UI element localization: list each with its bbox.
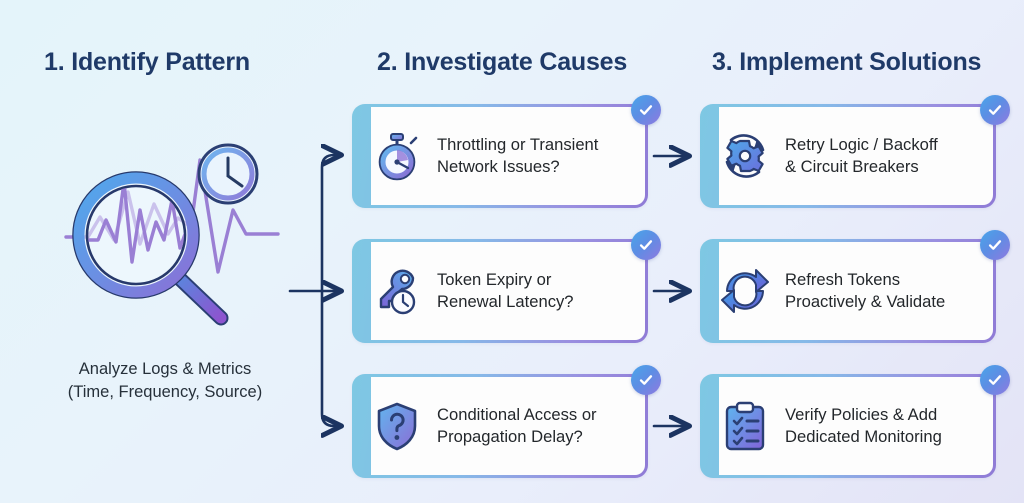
stopwatch-icon <box>371 130 423 182</box>
gear-refresh-icon <box>719 130 771 182</box>
card-text: Token Expiry or Renewal Latency? <box>437 269 574 313</box>
card-text: Conditional Access or Propagation Delay? <box>437 404 597 448</box>
card-text: Retry Logic / Backoff & Circuit Breakers <box>785 134 938 178</box>
check-badge-solution-1 <box>980 95 1010 125</box>
card-line-2: Propagation Delay? <box>437 426 597 448</box>
card-line-1: Conditional Access or <box>437 404 597 426</box>
key-clock-icon <box>371 265 423 317</box>
clipboard-check-icon <box>719 400 771 452</box>
card-line-1: Retry Logic / Backoff <box>785 134 938 156</box>
column-title-identify-pattern: 1. Identify Pattern <box>44 48 250 77</box>
card-line-2: Renewal Latency? <box>437 291 574 313</box>
check-icon <box>637 371 655 389</box>
check-badge-solution-2 <box>980 230 1010 260</box>
check-icon <box>986 371 1004 389</box>
card-text: Refresh Tokens Proactively & Validate <box>785 269 945 313</box>
sync-arrows-icon <box>719 265 771 317</box>
card-line-2: Dedicated Monitoring <box>785 426 942 448</box>
check-badge-cause-3 <box>631 365 661 395</box>
card-line-1: Verify Policies & Add <box>785 404 942 426</box>
card-line-1: Throttling or Transient <box>437 134 598 156</box>
shield-question-icon <box>371 400 423 452</box>
card-text: Throttling or Transient Network Issues? <box>437 134 598 178</box>
card-cause-throttling[interactable]: Throttling or Transient Network Issues? <box>352 104 648 208</box>
card-line-1: Refresh Tokens <box>785 269 945 291</box>
check-badge-solution-3 <box>980 365 1010 395</box>
card-text: Verify Policies & Add Dedicated Monitori… <box>785 404 942 448</box>
caption-line-1: Analyze Logs & Metrics <box>10 358 320 381</box>
illustration-caption: Analyze Logs & Metrics (Time, Frequency,… <box>10 358 320 405</box>
check-badge-cause-1 <box>631 95 661 125</box>
column-title-investigate-causes: 2. Investigate Causes <box>377 48 627 77</box>
card-cause-token-expiry[interactable]: Token Expiry or Renewal Latency? <box>352 239 648 343</box>
card-solution-refresh-tokens[interactable]: Refresh Tokens Proactively & Validate <box>700 239 996 343</box>
check-badge-cause-2 <box>631 230 661 260</box>
check-icon <box>637 101 655 119</box>
infographic-canvas: 1. Identify Pattern 2. Investigate Cause… <box>0 0 1024 503</box>
check-icon <box>986 236 1004 254</box>
card-line-2: & Circuit Breakers <box>785 156 938 178</box>
card-solution-retry-logic[interactable]: Retry Logic / Backoff & Circuit Breakers <box>700 104 996 208</box>
card-line-2: Network Issues? <box>437 156 598 178</box>
card-cause-conditional-access[interactable]: Conditional Access or Propagation Delay? <box>352 374 648 478</box>
card-solution-verify-policies[interactable]: Verify Policies & Add Dedicated Monitori… <box>700 374 996 478</box>
card-line-2: Proactively & Validate <box>785 291 945 313</box>
check-icon <box>637 236 655 254</box>
card-line-1: Token Expiry or <box>437 269 574 291</box>
caption-line-2: (Time, Frequency, Source) <box>10 381 320 404</box>
check-icon <box>986 101 1004 119</box>
magnifier-waveform-clock-illustration <box>28 122 318 352</box>
column-title-implement-solutions: 3. Implement Solutions <box>712 48 981 77</box>
